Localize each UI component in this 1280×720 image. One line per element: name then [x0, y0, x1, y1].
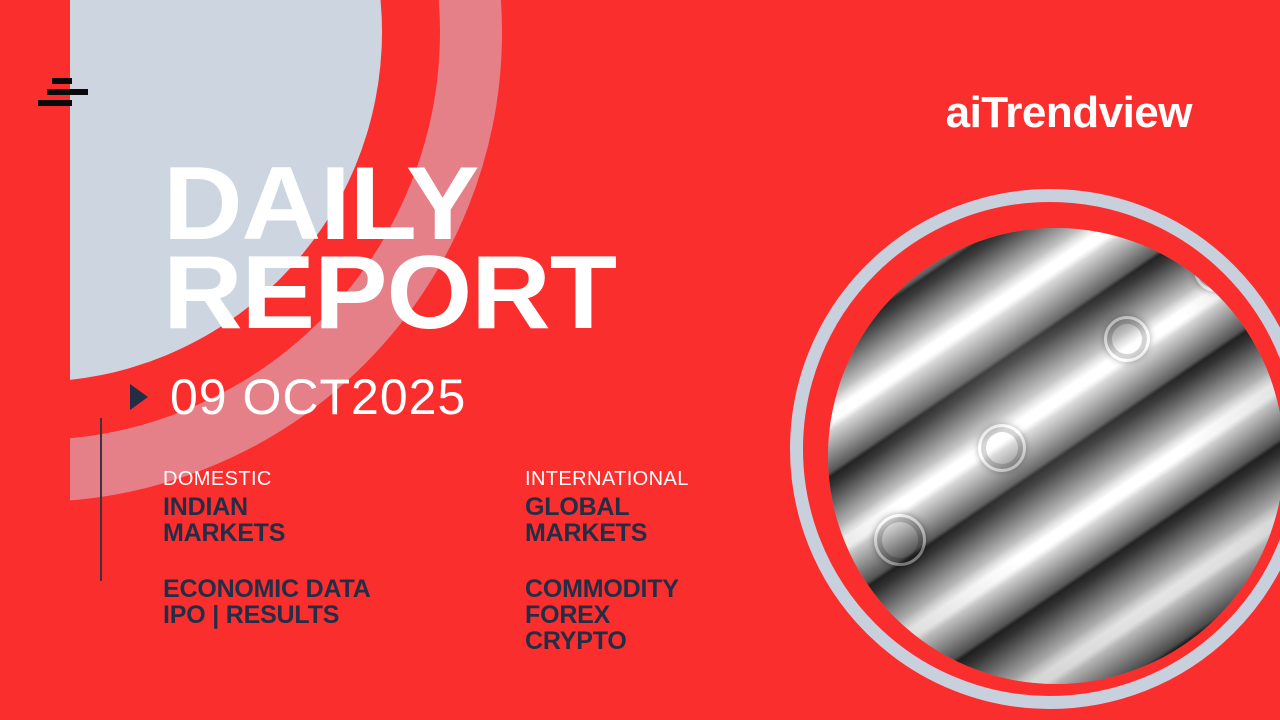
topic-kicker-international: INTERNATIONAL [525, 466, 787, 492]
daily-report-poster: aiTrendview DAILY REPORT 09 OCT2025 DOME… [0, 0, 1280, 720]
vertical-divider [100, 418, 102, 581]
play-triangle-icon [130, 384, 148, 410]
photo-vignette [828, 228, 1280, 684]
topic-column-international: INTERNATIONAL GLOBAL MARKETS COMMODITY F… [525, 466, 787, 654]
topic-international-primary-2: MARKETS [525, 520, 787, 546]
topics-container: DOMESTIC INDIAN MARKETS ECONOMIC DATA IP… [163, 466, 787, 654]
bar-mark-line-3 [38, 100, 72, 106]
silver-bars-photo [828, 228, 1280, 684]
topic-column-domestic: DOMESTIC INDIAN MARKETS ECONOMIC DATA IP… [163, 466, 425, 654]
topic-domestic-primary-2: MARKETS [163, 520, 425, 546]
topic-kicker-domestic: DOMESTIC [163, 466, 425, 492]
page-title: DAILY REPORT [163, 160, 590, 339]
bar-mark-line-1 [52, 78, 72, 84]
page-title-line-2: REPORT [163, 249, 616, 338]
topic-domestic-primary-1: INDIAN [163, 494, 425, 520]
bar-mark-line-2 [47, 89, 88, 95]
topic-international-secondary-1: COMMODITY [525, 576, 787, 602]
brand-wordmark: aiTrendview [946, 88, 1192, 138]
report-date: 09 OCT2025 [170, 368, 466, 426]
topic-domestic-secondary-2: IPO | RESULTS [163, 602, 425, 628]
topic-international-secondary-2: FOREX [525, 602, 787, 628]
topic-domestic-secondary-1: ECONOMIC DATA [163, 576, 425, 602]
topic-spacer-international [525, 546, 787, 576]
topic-spacer-domestic [163, 546, 425, 576]
date-row: 09 OCT2025 [130, 368, 466, 426]
three-bar-mark-icon [38, 78, 88, 110]
topic-international-secondary-3: CRYPTO [525, 628, 787, 654]
topic-international-primary-1: GLOBAL [525, 494, 787, 520]
